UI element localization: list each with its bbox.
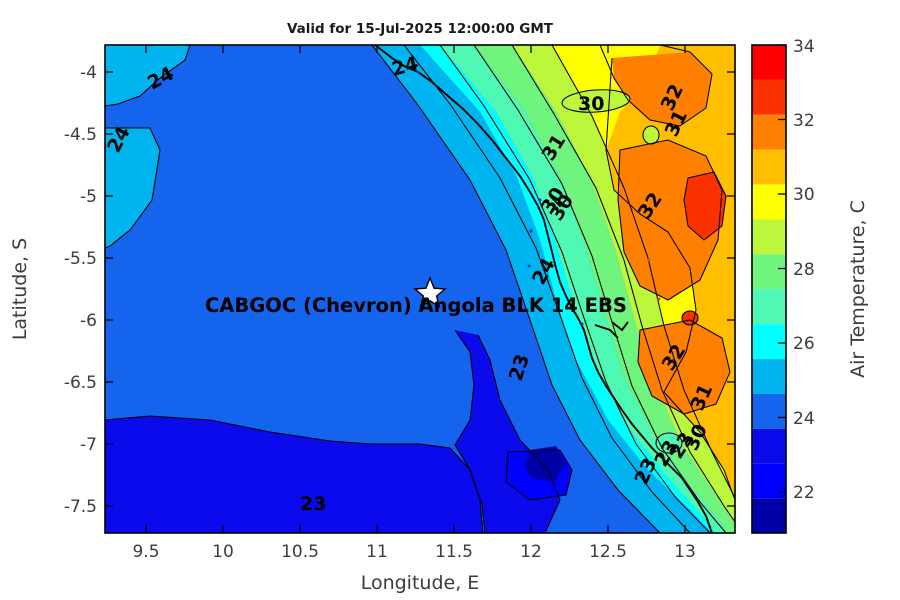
cbar-band-below-21 [752,499,786,533]
cbar-tick-label: 22 [793,483,815,503]
x-tick-label: 10.5 [281,542,319,562]
cbar-band-27-28 [752,254,786,289]
colorbar-label: Air Temperature, C [847,200,869,378]
chart-title: Valid for 15-Jul-2025 12:00:00 GMT [287,21,554,37]
cbar-tick-label: 26 [793,334,815,354]
contour-label: 30 [578,93,604,115]
y-tick-label: -6 [80,311,97,331]
y-axis-label: Latitude, S [9,238,31,340]
x-tick-label: 11 [366,542,388,562]
x-tick-label: 13 [674,542,696,562]
cbar-band-24-25 [752,359,786,394]
x-tick-label: 11.5 [435,542,473,562]
y-tick-label: -7 [80,435,97,455]
y-tick-label: -7.5 [64,497,97,517]
cbar-band-33-34 [752,45,786,80]
cbar-band-21-22 [752,464,786,499]
station-label: CABGOC (Chevron) Angola BLK 14 EBS [205,294,627,317]
cbar-tick-label: 32 [793,111,815,131]
cbar-band-22-23 [752,429,786,464]
cbar-band-23-24 [752,394,786,429]
cbar-band-29-30 [752,185,786,220]
x-tick-label: 9.5 [132,542,159,562]
cbar-tick-label: 30 [793,185,815,205]
colorbar-swatches [752,45,786,533]
cbar-tick-label: 24 [793,409,815,429]
x-tick-label: 12.5 [589,542,627,562]
cbar-band-32-33 [752,80,786,115]
contour-label: 23 [300,493,326,515]
cbar-tick-label: 28 [793,260,815,280]
cbar-band-26-27 [752,289,786,324]
contour-fill-layer: 24 24 24 24 23 23 23 23 23 30 30 30 30 3… [103,45,735,533]
cbar-tick-label: 34 [793,37,815,57]
temperature-contour-figure: Valid for 15-Jul-2025 12:00:00 GMT [0,0,900,600]
y-tick-label: -6.5 [64,373,97,393]
x-axis-label: Longitude, E [361,572,480,594]
y-tick-label: -5 [80,187,97,207]
y-tick-label: -5.5 [64,249,97,269]
cbar-band-25-26 [752,324,786,359]
y-tick-label: -4.5 [64,125,97,145]
cbar-band-28-29 [752,220,786,255]
y-tick-label: -4 [80,63,97,83]
x-tick-label: 12 [520,542,542,562]
map-plot-area: 24 24 24 24 23 23 23 23 23 30 30 30 30 3… [9,45,735,594]
cbar-band-30-31 [752,150,786,185]
x-tick-label: 10 [212,542,234,562]
